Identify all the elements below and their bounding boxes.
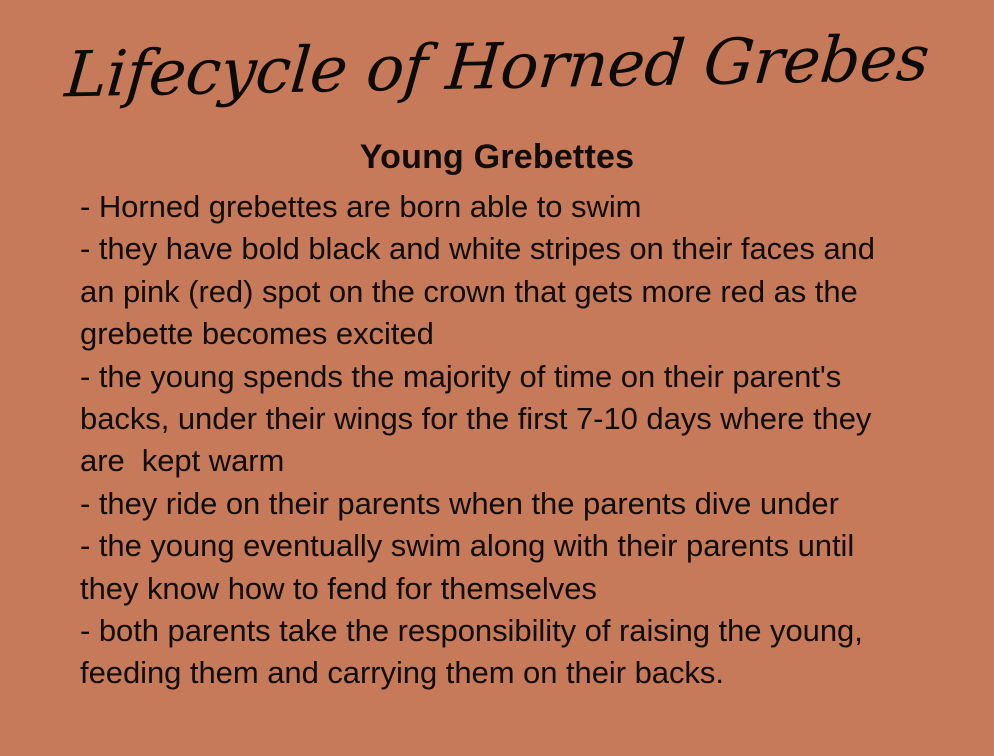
slide-canvas: Lifecycle of Horned Grebes Young Grebett… xyxy=(0,0,994,756)
page-title: Lifecycle of Horned Grebes xyxy=(0,24,994,109)
body-line: feeding them and carrying them on their … xyxy=(80,652,936,694)
body-line: - the young spends the majority of time … xyxy=(80,356,936,398)
body-line: grebette becomes excited xyxy=(80,313,936,355)
body-line: are kept warm xyxy=(80,440,936,482)
section-heading: Young Grebettes xyxy=(0,137,994,177)
body-line: an pink (red) spot on the crown that get… xyxy=(80,271,936,313)
body-line: - both parents take the responsibility o… xyxy=(80,610,936,652)
body-line: backs, under their wings for the first 7… xyxy=(80,398,936,440)
body-line: - they have bold black and white stripes… xyxy=(80,228,936,270)
body-line: - they ride on their parents when the pa… xyxy=(80,483,936,525)
body-line: - the young eventually swim along with t… xyxy=(80,525,936,567)
body-line: - Horned grebettes are born able to swim xyxy=(80,186,936,228)
body-text-block: - Horned grebettes are born able to swim… xyxy=(80,186,936,695)
body-line: they know how to fend for themselves xyxy=(80,568,936,610)
